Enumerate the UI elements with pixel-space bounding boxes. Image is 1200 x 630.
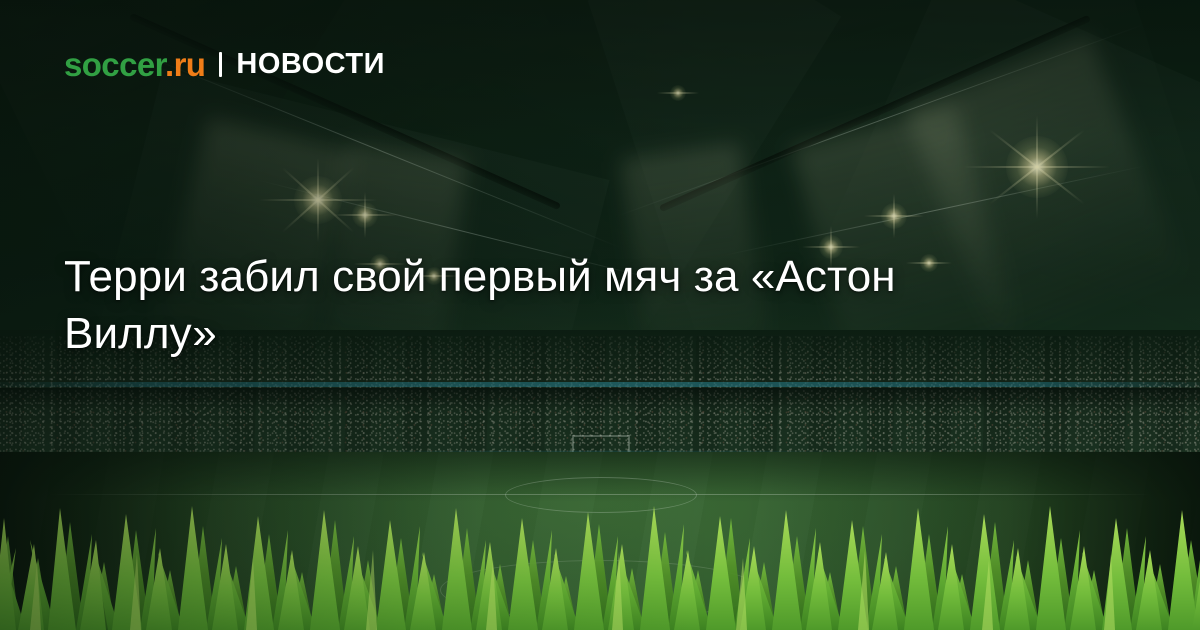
logo-text-suffix: .ru [165, 46, 205, 83]
logo-text-primary: soccer [64, 46, 165, 83]
card-content: soccer.ru НОВОСТИ Терри забил свой первы… [0, 0, 1200, 630]
article-headline: Терри забил свой первый мяч за «Астон Ви… [64, 248, 1024, 362]
soccer-ru-logo[interactable]: soccer.ru [64, 48, 205, 81]
news-share-card: soccer.ru НОВОСТИ Терри забил свой первы… [0, 0, 1200, 630]
brand-bar: soccer.ru НОВОСТИ [64, 48, 385, 81]
section-label-news: НОВОСТИ [236, 50, 385, 79]
brand-divider [219, 52, 222, 77]
